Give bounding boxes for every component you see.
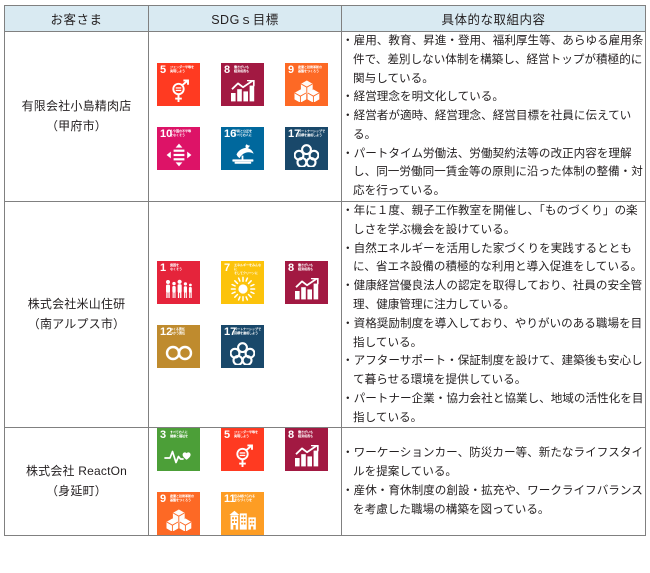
sdg-icon-grid: 5ジェンダー平等を実現しよう8働きがいも経済成長も9産業と技術革新の基盤をつくろ… xyxy=(149,63,341,170)
sdg-initiatives-table: お客さま SDGｓ目標 具体的な取組内容 有限会社小島精肉店（甲府市）5ジェンダ… xyxy=(4,5,646,536)
sdg-goals-cell: 5ジェンダー平等を実現しよう8働きがいも経済成長も9産業と技術革新の基盤をつくろ… xyxy=(149,32,342,202)
sdg-goal-caption: 働きがいも経済成長も xyxy=(234,66,262,74)
table-row: 株式会社米山住研（南アルプス市）1貧困をなくそう7エネルギーをみんなにそしてクリ… xyxy=(5,202,646,428)
sdg-goal-caption: 働きがいも経済成長も xyxy=(298,431,326,439)
sdg-goal-caption: 平和と公正をすべての人に xyxy=(234,130,262,138)
activity-item: ・年に１度、親子工作教室を開催し、「ものづくり」の楽しさを学ぶ機会を設けている。 xyxy=(342,202,645,240)
industry-innovation-icon xyxy=(285,78,328,104)
sdg-goal-caption: ジェンダー平等を実現しよう xyxy=(234,431,262,439)
header-row: お客さま SDGｓ目標 具体的な取組内容 xyxy=(5,6,646,32)
sdg-goal-number: 3 xyxy=(160,430,166,441)
sdg-goal-tile-8[interactable]: 8働きがいも経済成長も xyxy=(285,428,328,471)
sdg-icon-grid: 3すべての人に健康と福祉を5ジェンダー平等を実現しよう8働きがいも経済成長も9産… xyxy=(149,428,341,535)
clean-energy-icon xyxy=(221,276,264,302)
activity-list: ・年に１度、親子工作教室を開催し、「ものづくり」の楽しさを学ぶ機会を設けている。… xyxy=(342,202,645,427)
sdg-goal-number: 8 xyxy=(288,263,294,274)
sdg-goal-tile-16[interactable]: 16平和と公正をすべての人に xyxy=(221,127,264,170)
table-body: 有限会社小島精肉店（甲府市）5ジェンダー平等を実現しよう8働きがいも経済成長も9… xyxy=(5,32,646,536)
activity-item: ・アフターサポート・保証制度を設けて、建築後も安心して暮らせる環境を提供している… xyxy=(342,352,645,390)
activity-list: ・雇用、教育、昇進・登用、福利厚生等、あらゆる雇用条件で、差別しない体制を構築し… xyxy=(342,32,645,201)
sdg-goal-caption: ジェンダー平等を実現しよう xyxy=(170,66,198,74)
customer-cell: 株式会社 ReactOn（身延町） xyxy=(5,428,149,536)
customer-cell: 株式会社米山住研（南アルプス市） xyxy=(5,202,149,428)
sdg-goals-cell: 1貧困をなくそう7エネルギーをみんなにそしてクリーンに8働きがいも経済成長も12… xyxy=(149,202,342,428)
sdg-icon-grid: 1貧困をなくそう7エネルギーをみんなにそしてクリーンに8働きがいも経済成長も12… xyxy=(149,261,341,368)
sustainable-cities-icon xyxy=(221,507,264,533)
sdg-goal-tile-10[interactable]: 10人や国の不平等をなくそう xyxy=(157,127,200,170)
table-header: お客さま SDGｓ目標 具体的な取組内容 xyxy=(5,6,646,32)
column-header-customer: お客さま xyxy=(5,6,149,32)
gender-equality-icon xyxy=(157,78,200,104)
column-header-activities: 具体的な取組内容 xyxy=(342,6,646,32)
sdg-goal-tile-17[interactable]: 17パートナーシップで目標を達成しよう xyxy=(285,127,328,170)
customer-name: 株式会社 ReactOn xyxy=(5,462,148,482)
sdg-goal-caption: パートナーシップで目標を達成しよう xyxy=(298,130,326,138)
activity-item: ・自然エネルギーを活用した家づくりを実践するとともに、省エネ設備の積極的な利用と… xyxy=(342,240,645,278)
sdg-goal-caption: つくる責任つかう責任 xyxy=(170,328,198,336)
customer-city: （甲府市） xyxy=(5,117,148,137)
sdg-goal-number: 7 xyxy=(224,263,230,274)
activity-item: ・健康経営優良法人の認定を取得しており、社員の安全管理、健康管理に注力している。 xyxy=(342,277,645,315)
customer-name: 有限会社小島精肉店 xyxy=(5,97,148,117)
sdg-goal-tile-1[interactable]: 1貧困をなくそう xyxy=(157,261,200,304)
partnerships-icon xyxy=(221,340,264,366)
sdg-goal-number: 1 xyxy=(160,263,166,274)
customer-cell: 有限会社小島精肉店（甲府市） xyxy=(5,32,149,202)
sdg-goal-tile-11[interactable]: 11住み続けられるまちづくりを xyxy=(221,492,264,535)
sdg-goal-number: 8 xyxy=(224,65,230,76)
sdg-goals-cell: 3すべての人に健康と福祉を5ジェンダー平等を実現しよう8働きがいも経済成長も9産… xyxy=(149,428,342,536)
sdg-goal-tile-17[interactable]: 17パートナーシップで目標を達成しよう xyxy=(221,325,264,368)
sdg-goal-caption: 人や国の不平等をなくそう xyxy=(170,130,198,138)
activities-cell: ・雇用、教育、昇進・登用、福利厚生等、あらゆる雇用条件で、差別しない体制を構築し… xyxy=(342,32,646,202)
table-row: 有限会社小島精肉店（甲府市）5ジェンダー平等を実現しよう8働きがいも経済成長も9… xyxy=(5,32,646,202)
sdg-goal-tile-12[interactable]: 12つくる責任つかう責任 xyxy=(157,325,200,368)
table-row: 株式会社 ReactOn（身延町）3すべての人に健康と福祉を5ジェンダー平等を実… xyxy=(5,428,646,536)
sdg-goal-number: 9 xyxy=(288,65,294,76)
sdg-goal-caption: エネルギーをみんなにそしてクリーンに xyxy=(234,264,262,276)
activity-item: ・ワーケーションカー、防災カー等、新たなライフスタイルを提案している。 xyxy=(342,444,645,482)
decent-work-icon xyxy=(285,276,328,302)
sdg-goal-tile-5[interactable]: 5ジェンダー平等を実現しよう xyxy=(221,428,264,471)
responsible-consumption-icon xyxy=(157,340,200,366)
customer-city: （南アルプス市） xyxy=(5,315,148,335)
sdg-goal-caption: 産業と技術革新の基盤をつくろう xyxy=(298,66,326,74)
activities-cell: ・年に１度、親子工作教室を開催し、「ものづくり」の楽しさを学ぶ機会を設けている。… xyxy=(342,202,646,428)
sdg-goal-caption: 貧困をなくそう xyxy=(170,264,198,272)
activity-list: ・ワーケーションカー、防災カー等、新たなライフスタイルを提案している。・産休・育… xyxy=(342,444,645,519)
industry-innovation-icon xyxy=(157,507,200,533)
peace-justice-icon xyxy=(221,142,264,168)
sdg-goal-number: 5 xyxy=(224,430,230,441)
sdg-goal-caption: 働きがいも経済成長も xyxy=(298,264,326,272)
sdg-goal-tile-7[interactable]: 7エネルギーをみんなにそしてクリーンに xyxy=(221,261,264,304)
sdg-goal-tile-8[interactable]: 8働きがいも経済成長も xyxy=(285,261,328,304)
no-poverty-icon xyxy=(157,276,200,302)
sdg-goal-number: 9 xyxy=(160,494,166,505)
sdg-goal-caption: 住み続けられるまちづくりを xyxy=(234,495,262,503)
sdg-goal-caption: すべての人に健康と福祉を xyxy=(170,431,198,439)
activity-item: ・資格奨励制度を導入しており、やりがいのある職場を目指している。 xyxy=(342,315,645,353)
activity-item: ・産休・育休制度の創設・拡充や、ワークライフバランスを考慮した職場の構築を図って… xyxy=(342,482,645,520)
customer-name: 株式会社米山住研 xyxy=(5,295,148,315)
activity-item: ・パートナー企業・協力会社と協業し、地域の活性化を目指している。 xyxy=(342,390,645,428)
reduced-inequalities-icon xyxy=(157,142,200,168)
partnerships-icon xyxy=(285,142,328,168)
sdg-goal-tile-9[interactable]: 9産業と技術革新の基盤をつくろう xyxy=(285,63,328,106)
sdg-goal-number: 8 xyxy=(288,430,294,441)
sdg-initiatives-sheet: お客さま SDGｓ目標 具体的な取組内容 有限会社小島精肉店（甲府市）5ジェンダ… xyxy=(0,0,650,573)
sdg-goal-number: 5 xyxy=(160,65,166,76)
good-health-icon xyxy=(157,443,200,469)
column-header-sdg-goals: SDGｓ目標 xyxy=(149,6,342,32)
activity-item: ・経営者が適時、経営理念、経営目標を社員に伝えている。 xyxy=(342,107,645,145)
decent-work-icon xyxy=(221,78,264,104)
activity-item: ・パートタイム労働法、労働契約法等の改正内容を理解し、同一労働同一賃金等の原則に… xyxy=(342,145,645,201)
sdg-goal-tile-9[interactable]: 9産業と技術革新の基盤をつくろう xyxy=(157,492,200,535)
sdg-goal-caption: パートナーシップで目標を達成しよう xyxy=(234,328,262,336)
gender-equality-icon xyxy=(221,443,264,469)
sdg-goal-tile-8[interactable]: 8働きがいも経済成長も xyxy=(221,63,264,106)
activity-item: ・雇用、教育、昇進・登用、福利厚生等、あらゆる雇用条件で、差別しない体制を構築し… xyxy=(342,32,645,88)
decent-work-icon xyxy=(285,443,328,469)
customer-city: （身延町） xyxy=(5,482,148,502)
sdg-goal-tile-5[interactable]: 5ジェンダー平等を実現しよう xyxy=(157,63,200,106)
activities-cell: ・ワーケーションカー、防災カー等、新たなライフスタイルを提案している。・産休・育… xyxy=(342,428,646,536)
sdg-goal-tile-3[interactable]: 3すべての人に健康と福祉を xyxy=(157,428,200,471)
activity-item: ・経営理念を明文化している。 xyxy=(342,88,645,107)
sdg-goal-caption: 産業と技術革新の基盤をつくろう xyxy=(170,495,198,503)
